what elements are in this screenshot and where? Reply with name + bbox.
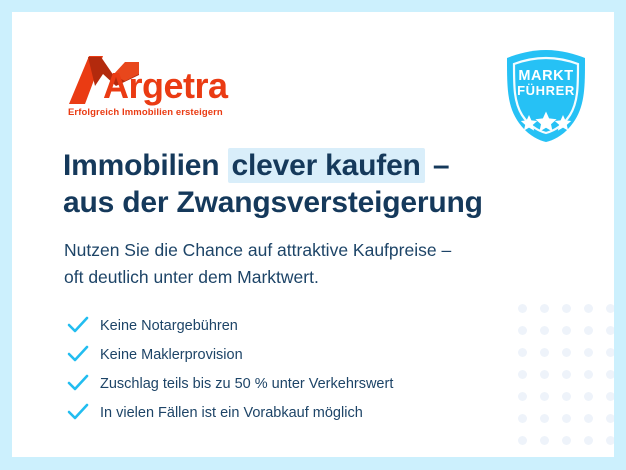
decor-dot (562, 436, 571, 445)
logo-tagline: Erfolgreich Immobilien ersteigern (68, 107, 223, 118)
decor-dot (562, 414, 571, 423)
decor-dot (584, 436, 593, 445)
badge-stars (501, 110, 591, 132)
decor-dot (540, 414, 549, 423)
decor-dot (584, 326, 593, 335)
decor-dot (562, 326, 571, 335)
decor-dot (606, 370, 614, 379)
decor-dot (584, 304, 593, 313)
list-item-label: Keine Maklerprovision (100, 347, 243, 363)
headline-highlight: clever kaufen (228, 148, 425, 183)
argetra-logo: Argetra Erfolgreich Immobilien ersteiger… (67, 54, 257, 120)
badge-line-2: FÜHRER (501, 84, 591, 98)
check-icon (67, 373, 89, 393)
decor-dot (606, 326, 614, 335)
decor-dot (606, 436, 614, 445)
page-title: Immobilien clever kaufen – aus der Zwang… (63, 148, 533, 222)
headline-pre: Immobilien (63, 149, 228, 182)
check-icon (67, 402, 89, 422)
list-item-label: In vielen Fällen ist ein Vorabkauf mögli… (100, 405, 363, 421)
decor-dot (584, 370, 593, 379)
decor-dot (540, 326, 549, 335)
dot-grid-decoration (518, 304, 614, 457)
logo-wordmark: Argetra (103, 68, 228, 104)
check-icon (67, 344, 89, 364)
subheading-line-1: Nutzen Sie die Chance auf attraktive Kau… (64, 237, 544, 264)
list-item: In vielen Fällen ist ein Vorabkauf mögli… (67, 398, 527, 427)
list-item: Keine Notargebühren (67, 311, 527, 340)
decor-dot (540, 392, 549, 401)
decor-dot (540, 436, 549, 445)
decor-dot (584, 348, 593, 357)
headline-line-2: aus der Zwangsversteigerung (63, 185, 533, 222)
headline-post: – (425, 149, 450, 182)
subheading-line-2: oft deutlich unter dem Marktwert. (64, 264, 544, 291)
decor-dot (562, 348, 571, 357)
subheading: Nutzen Sie die Chance auf attraktive Kau… (64, 237, 544, 291)
decor-dot (540, 348, 549, 357)
check-icon (67, 315, 89, 335)
benefit-list: Keine Notargebühren Keine Maklerprovisio… (67, 311, 527, 427)
list-item-label: Keine Notargebühren (100, 318, 238, 334)
promo-banner: Argetra Erfolgreich Immobilien ersteiger… (0, 0, 626, 470)
decor-dot (540, 370, 549, 379)
list-item-label: Zuschlag teils bis zu 50 % unter Verkehr… (100, 376, 393, 392)
decor-dot (606, 304, 614, 313)
market-leader-badge: MARKT FÜHRER (501, 48, 591, 144)
headline-line-1: Immobilien clever kaufen – (63, 148, 533, 185)
decor-dot (606, 414, 614, 423)
list-item: Zuschlag teils bis zu 50 % unter Verkehr… (67, 369, 527, 398)
decor-dot (584, 392, 593, 401)
decor-dot (606, 392, 614, 401)
decor-dot (518, 436, 527, 445)
badge-line-1: MARKT (501, 69, 591, 84)
badge-text: MARKT FÜHRER (501, 69, 591, 98)
banner-card: Argetra Erfolgreich Immobilien ersteiger… (12, 12, 614, 457)
decor-dot (606, 348, 614, 357)
decor-dot (562, 392, 571, 401)
list-item: Keine Maklerprovision (67, 340, 527, 369)
decor-dot (540, 304, 549, 313)
decor-dot (562, 370, 571, 379)
decor-dot (562, 304, 571, 313)
decor-dot (584, 414, 593, 423)
